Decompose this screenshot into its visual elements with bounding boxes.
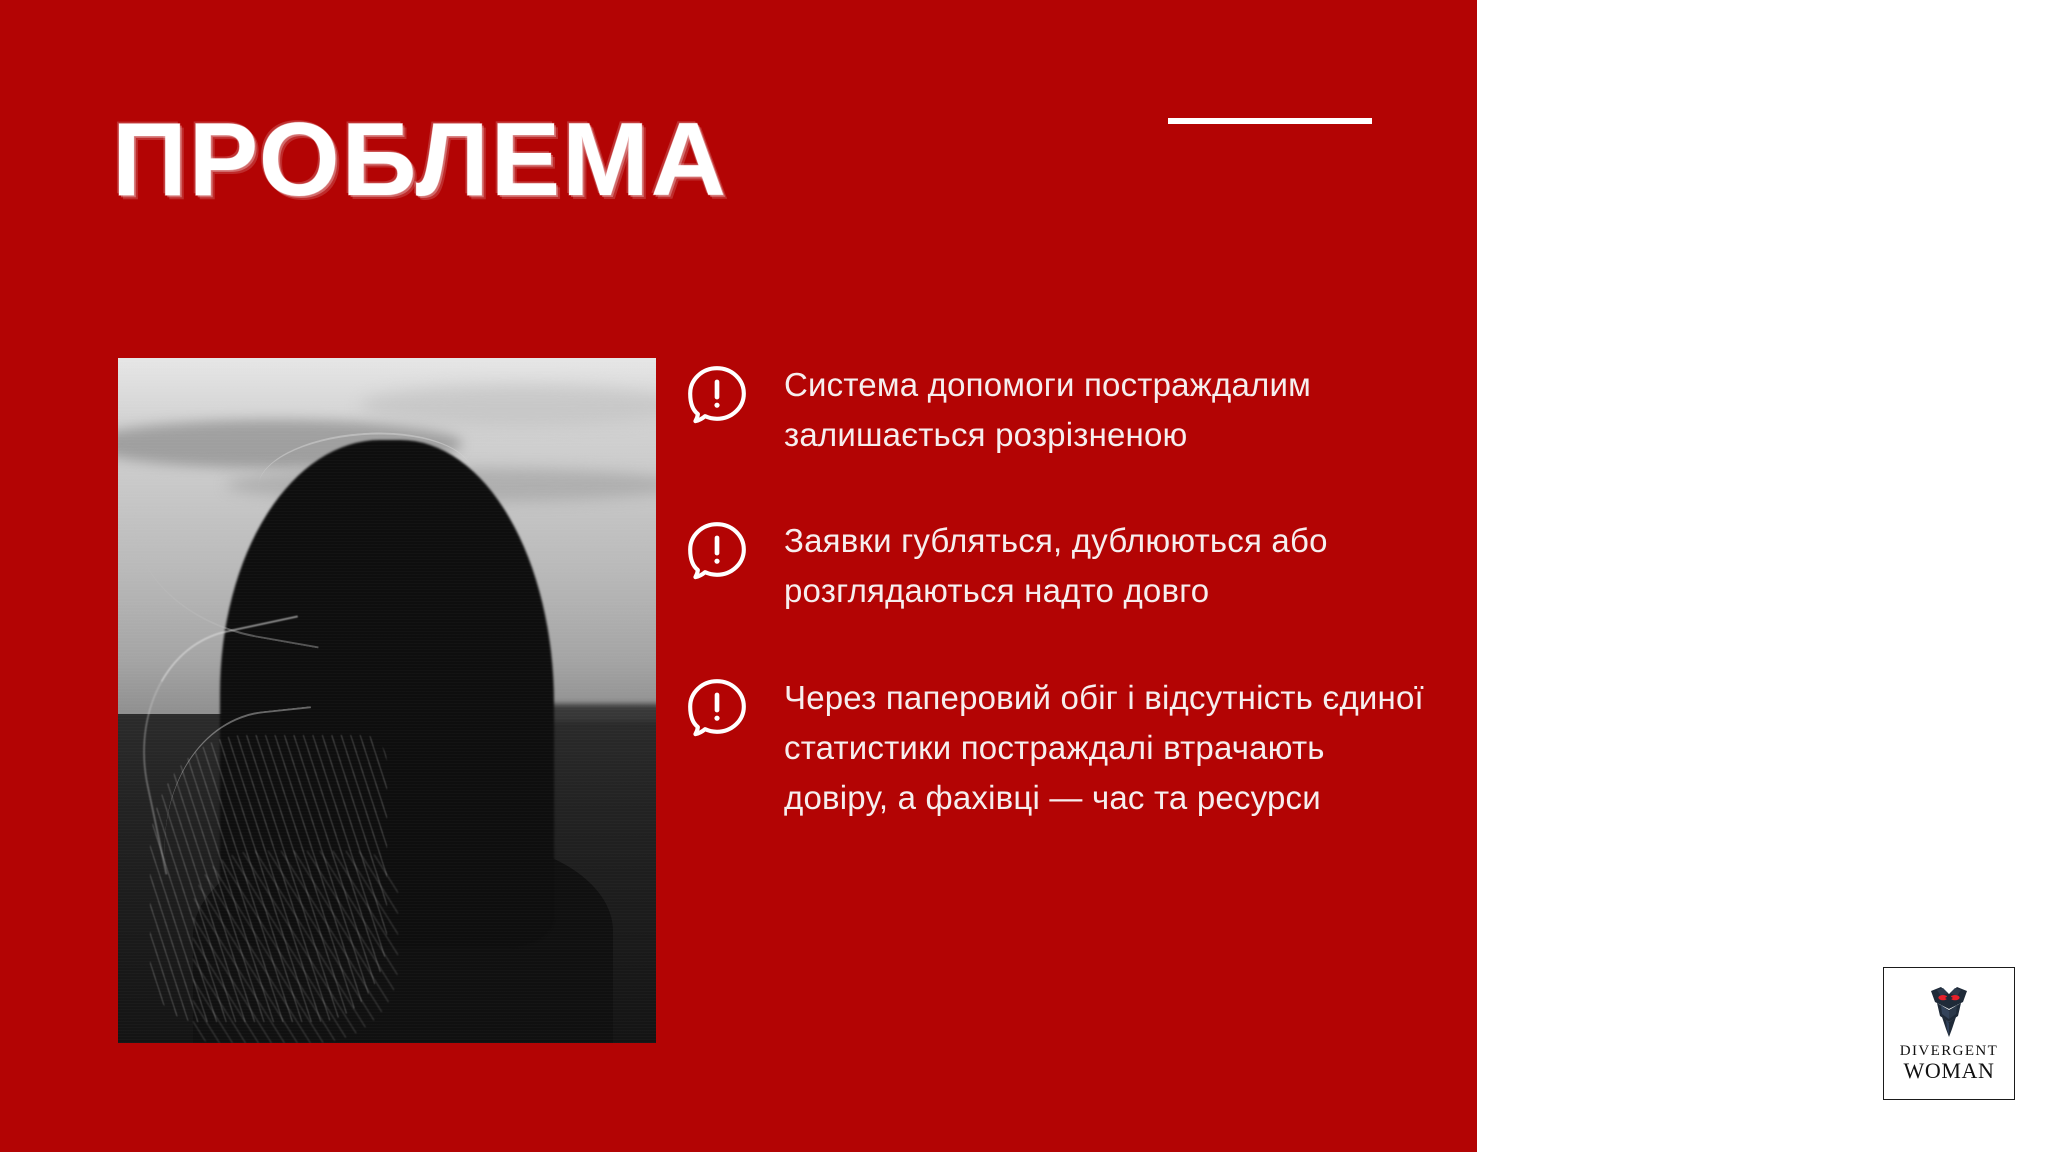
- list-item-label: Через паперовий обіг і відсутність єдино…: [784, 673, 1424, 823]
- alert-bubble-icon: [684, 518, 750, 584]
- problem-bullet-list: Система допомоги постраждалим залишаєтьс…: [684, 360, 1424, 823]
- diamond-face-logo-icon: [1927, 985, 1971, 1039]
- logo-wordmark-line1: DIVERGENT: [1900, 1044, 1998, 1060]
- hero-photo: [118, 358, 656, 1043]
- logo-wordmark-line2: WOMAN: [1904, 1059, 1995, 1082]
- photo-hair-strands: [193, 851, 397, 1043]
- presentation-slide: ПРОБЛЕМА Система допомог: [0, 0, 2048, 1152]
- decorative-rule: [1168, 118, 1372, 124]
- list-item: Заявки губляться, дублюються або розгляд…: [684, 516, 1424, 616]
- list-item-label: Система допомоги постраждалим залишаєтьс…: [784, 360, 1424, 460]
- list-item: Система допомоги постраждалим залишаєтьс…: [684, 360, 1424, 460]
- alert-bubble-icon: [684, 675, 750, 741]
- list-item-label: Заявки губляться, дублюються або розгляд…: [784, 516, 1424, 616]
- page-title: ПРОБЛЕМА: [112, 108, 728, 212]
- alert-bubble-icon: [684, 362, 750, 428]
- list-item: Через паперовий обіг і відсутність єдино…: [684, 673, 1424, 823]
- brand-logo: DIVERGENT WOMAN: [1883, 967, 2015, 1100]
